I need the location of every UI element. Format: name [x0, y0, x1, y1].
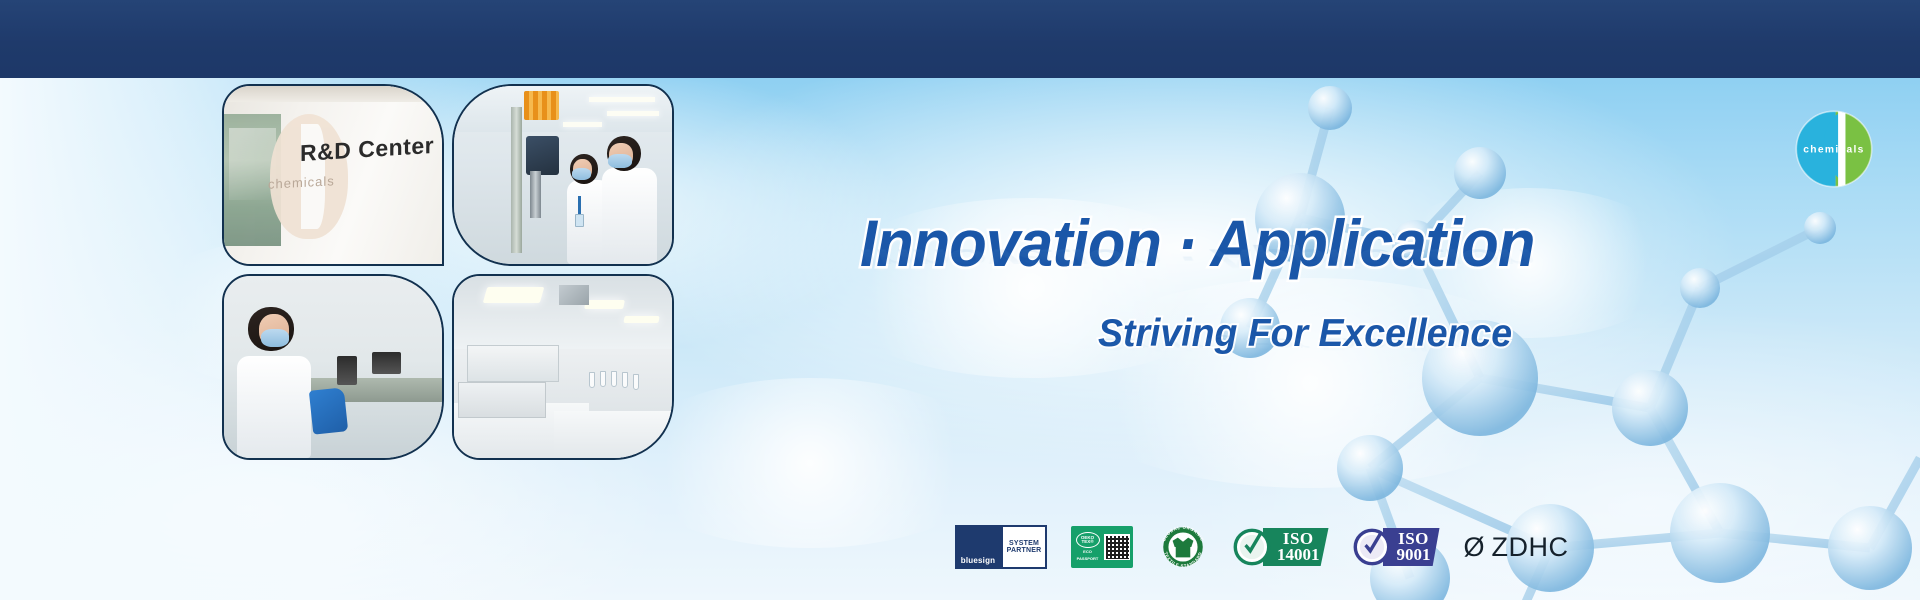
headline-secondary-reflection: Striving For Excellence — [1098, 334, 1828, 354]
ceiling-light — [589, 97, 654, 102]
oeko-label-line2: TEX® — [1081, 540, 1093, 545]
system-partner-line2: PARTNER — [1007, 547, 1042, 554]
promo-banner: R&D Center chemicals — [0, 0, 1920, 600]
bluesign-label: bluesign — [961, 556, 996, 565]
fume-hood — [467, 345, 559, 381]
oeko-sub-line2: PASSPORT — [1077, 557, 1099, 562]
collage-photo-lab-reactor — [452, 84, 674, 266]
oeko-qr-code — [1104, 534, 1130, 560]
zdhc-label: ZDHC — [1492, 534, 1569, 561]
bluesign-system-partner-block: SYSTEM PARTNER — [1001, 525, 1047, 569]
cert-oeko-tex[interactable]: OEKO TEX® ECO PASSPORT — [1071, 526, 1133, 568]
ceiling-light — [607, 111, 659, 116]
id-badge — [575, 214, 584, 227]
counter-top — [554, 411, 672, 458]
amber-bottles — [524, 91, 559, 119]
collage-photo-lab-room — [452, 274, 674, 460]
glassware — [600, 371, 606, 387]
collage-photo-fabric-test — [222, 274, 444, 460]
blue-fabric-sample — [309, 387, 348, 434]
tube-light — [623, 316, 659, 323]
system-partner-line1: SYSTEM — [1009, 540, 1039, 547]
face-mask — [572, 168, 592, 180]
cert-zdhc[interactable]: Ø ZDHC — [1464, 534, 1569, 561]
ceiling-vent — [559, 285, 590, 305]
bluesign-wordmark-block: bluesign — [955, 525, 1001, 569]
chemicals-logo[interactable]: chemicals — [1793, 108, 1875, 190]
photo-collage: R&D Center chemicals — [222, 84, 678, 464]
lanyard — [578, 196, 581, 214]
iso-9001-flag: ISO 9001 — [1383, 528, 1440, 566]
cert-iso-9001[interactable]: ISO 9001 — [1353, 527, 1440, 567]
iso-14001-flag: ISO 14001 — [1263, 528, 1329, 566]
glassware — [633, 374, 639, 390]
wall-trim — [224, 86, 442, 102]
lab-cabinet — [458, 382, 545, 418]
reactor-motor — [526, 136, 559, 175]
certification-strip: bluesign SYSTEM PARTNER OEKO TEX® ECO PA… — [955, 518, 1569, 576]
logo-wordmark: chemicals — [1803, 144, 1864, 155]
oeko-sub-line1: ECO — [1083, 550, 1092, 555]
glassware — [589, 372, 595, 388]
cert-iso-14001[interactable]: ISO 14001 — [1233, 527, 1329, 567]
face-mask — [261, 329, 289, 347]
glassware — [622, 372, 628, 388]
lab-coat — [237, 356, 311, 458]
glassware — [611, 371, 617, 387]
test-machine — [372, 352, 400, 374]
iso-14001-bottom: 14001 — [1277, 547, 1320, 563]
zdhc-slash-zero-icon: Ø — [1464, 534, 1485, 561]
iso-9001-bottom: 9001 — [1397, 547, 1431, 563]
reactor-frame — [511, 107, 522, 253]
headline-primary-reflection: Innovation · Application — [860, 245, 1716, 273]
collage-photo-rd-center: R&D Center chemicals — [222, 84, 444, 266]
oeko-tex-seal: OEKO TEX® — [1076, 532, 1100, 548]
ceiling-light — [563, 122, 602, 127]
iso-9001-seal — [1353, 528, 1391, 566]
cert-bluesign[interactable]: bluesign SYSTEM PARTNER — [955, 525, 1047, 569]
reactor-shaft — [530, 171, 541, 217]
subheadline-block: Striving For Excellence Striving For Exc… — [1098, 312, 1858, 398]
cert-gots[interactable]: GLOBAL ORGANIC TEXTILE STANDARD — [1157, 521, 1209, 573]
iso-14001-seal — [1233, 528, 1271, 566]
top-navy-bar — [0, 0, 1920, 78]
tube-light — [584, 300, 625, 309]
face-mask — [608, 154, 632, 168]
test-machine — [337, 356, 357, 385]
lab-coat — [602, 168, 657, 264]
tube-light — [482, 287, 543, 303]
